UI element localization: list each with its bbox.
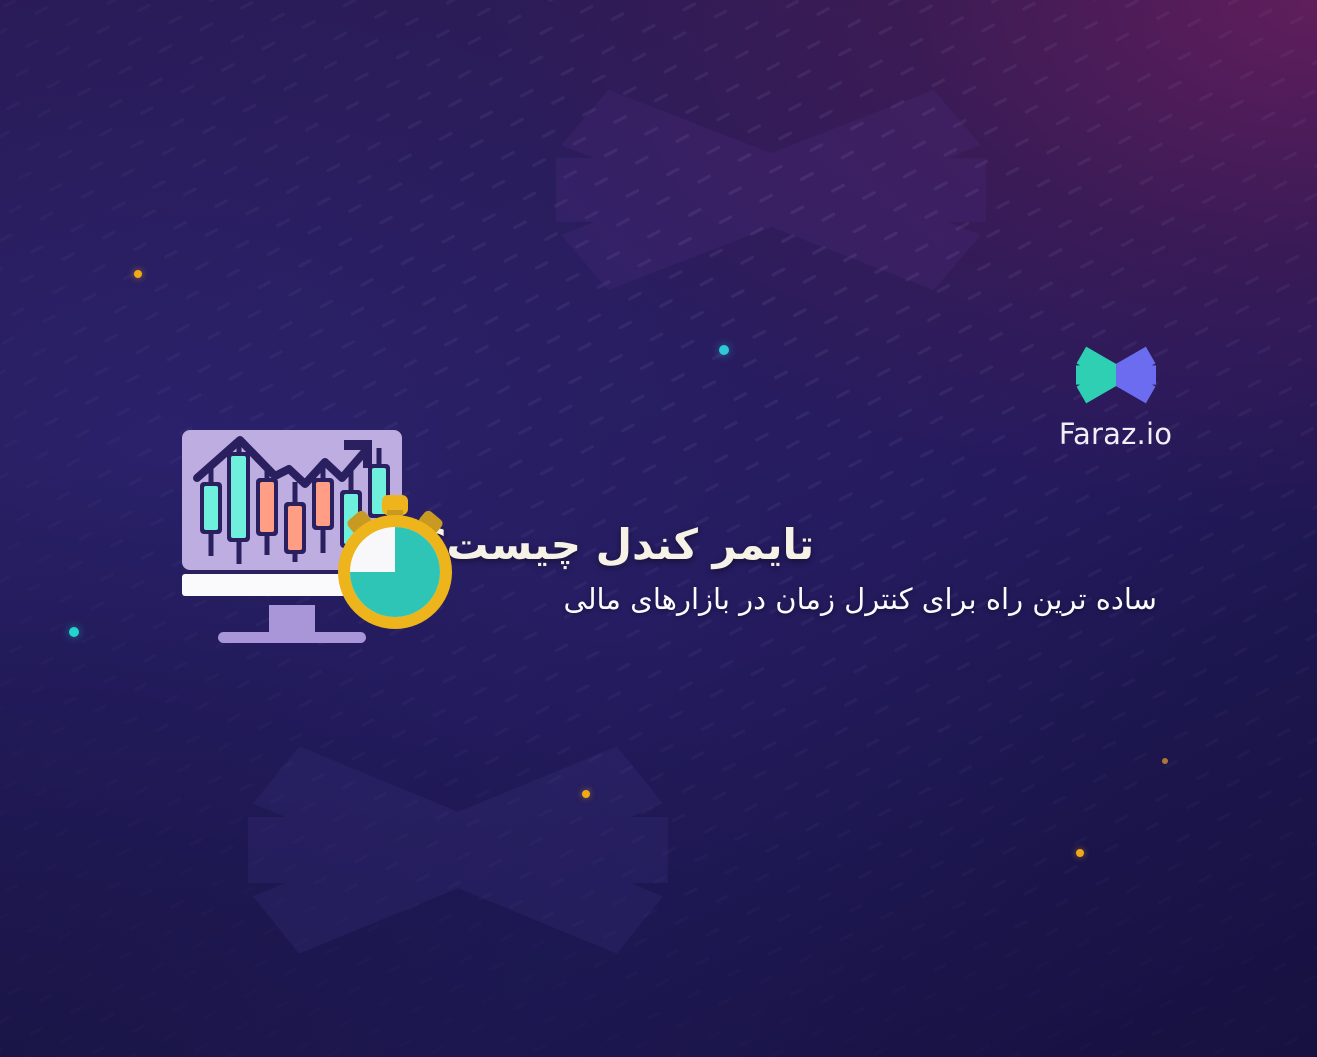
headline-block: تایمر کندل چیست؟ ساده ترین راه برای کنتر… — [397, 520, 1157, 620]
asterisk-icon — [1073, 335, 1159, 415]
page-subtitle: ساده ترین راه برای کنترل زمان در بازارها… — [397, 578, 1157, 620]
candlestick-monitor-stopwatch-illustration — [170, 420, 475, 660]
dot-teal-1 — [719, 345, 729, 355]
dot-teal-2 — [69, 627, 79, 637]
dot-orange-3 — [1076, 849, 1084, 857]
asterisk-watermark-top — [556, 45, 986, 335]
logo-wordmark: Faraz.io — [1058, 420, 1173, 449]
dot-orange-4 — [1162, 758, 1168, 764]
dot-orange-2 — [582, 790, 590, 798]
title-row: تایمر کندل چیست؟ — [397, 520, 1157, 570]
page-title: تایمر کندل چیست؟ — [422, 520, 814, 570]
promo-banner: Faraz.io تایمر کندل چیست؟ ساده ترین راه … — [0, 0, 1317, 1057]
faraz-logo[interactable]: Faraz.io — [1058, 335, 1173, 453]
asterisk-watermark-bottom — [248, 700, 668, 1000]
dot-orange-1 — [134, 270, 142, 278]
stopwatch-icon — [338, 495, 452, 629]
